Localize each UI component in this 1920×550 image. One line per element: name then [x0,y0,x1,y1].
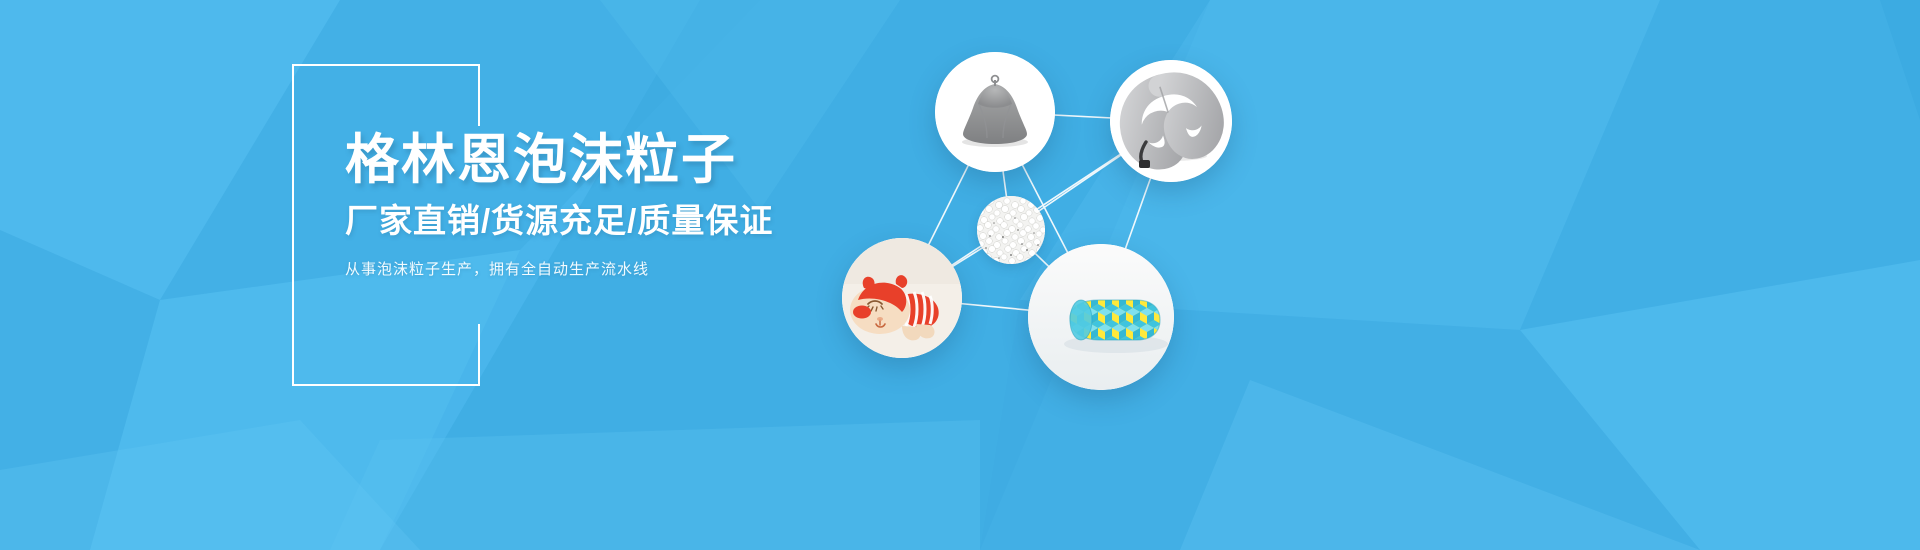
product-node-beanbag[interactable] [935,52,1055,172]
plush-toy-icon [842,238,962,358]
beanbag-chair-icon [935,52,1055,172]
product-node-plush-toy[interactable] [842,238,962,358]
neck-pillow-icon [1110,60,1232,182]
hero-banner: 格林恩泡沫粒子 厂家直销/货源充足/质量保证 从事泡沫粒子生产，拥有全自动生产流… [0,0,1920,550]
product-node-neck-pillow[interactable] [1110,60,1232,182]
bolster-pillow-icon [1028,244,1174,390]
product-network [820,0,1380,550]
product-node-bolster-pillow[interactable] [1028,244,1174,390]
